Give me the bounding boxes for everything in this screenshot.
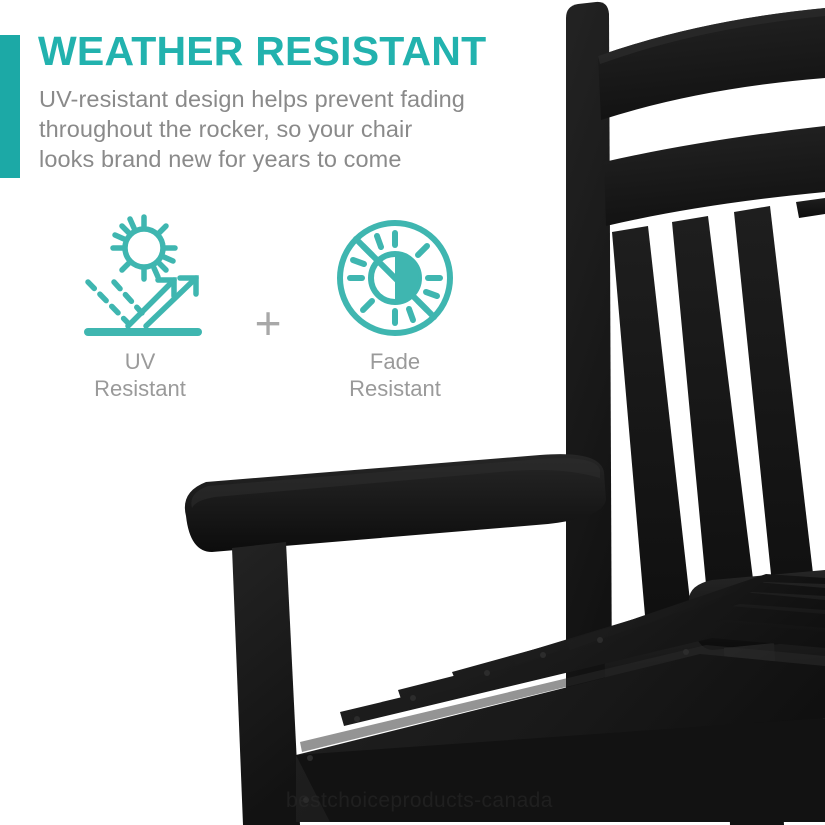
subtitle-text: UV-resistant design helps prevent fading… xyxy=(39,84,559,174)
feature-fade-caption-line1: Fade xyxy=(310,348,480,375)
feature-fade-caption: Fade Resistant xyxy=(310,348,480,402)
page-title: WEATHER RESISTANT xyxy=(38,26,486,76)
feature-uv-caption: UV Resistant xyxy=(55,348,225,402)
plus-separator: + xyxy=(218,300,318,346)
feature-uv-caption-line2: Resistant xyxy=(55,375,225,402)
chair-left-arm-support xyxy=(232,542,300,825)
feature-uv-resistant: UV Resistant xyxy=(55,208,225,418)
feature-uv-caption-line1: UV xyxy=(55,348,225,375)
subtitle-line-3: looks brand new for years to come xyxy=(39,144,559,174)
feature-fade-resistant: Fade Resistant xyxy=(310,208,480,418)
feature-icon-row: UV Resistant + xyxy=(30,208,450,418)
subtitle-line-2: throughout the rocker, so your chair xyxy=(39,114,559,144)
uv-resistant-icon xyxy=(55,208,225,348)
accent-bar xyxy=(0,35,20,178)
feature-fade-caption-line2: Resistant xyxy=(310,375,480,402)
chair-back-crossbar xyxy=(604,126,825,226)
uv-ground-bar xyxy=(84,328,202,336)
chair-top-rail xyxy=(598,8,825,120)
product-feature-banner: WEATHER RESISTANT UV-resistant design he… xyxy=(0,0,825,825)
subtitle-line-1: UV-resistant design helps prevent fading xyxy=(39,84,559,114)
fade-resistant-icon xyxy=(310,208,480,348)
